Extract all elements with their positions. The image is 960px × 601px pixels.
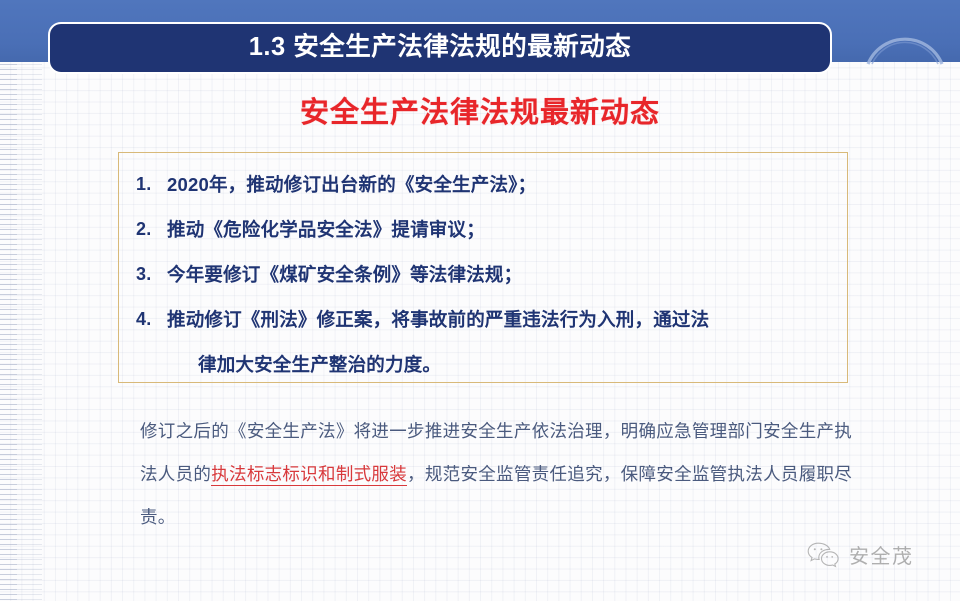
list-item-text: 今年要修订《煤矿安全条例》等法律法规； bbox=[167, 252, 841, 297]
slide-canvas: 1.3 安全生产法律法规的最新动态 安全生产法律法规最新动态 1. 2020年，… bbox=[0, 0, 960, 601]
watermark: 安全茂 bbox=[806, 540, 914, 569]
list-item-line1: 推动修订《刑法》修正案，将事故前的严重违法行为入刑，通过法 bbox=[167, 309, 709, 330]
list-item-number: 4. bbox=[136, 297, 167, 342]
page-title: 1.3 安全生产法律法规的最新动态 bbox=[249, 35, 632, 61]
wechat-icon bbox=[806, 541, 840, 569]
scan-stripes-left-inner bbox=[0, 62, 17, 601]
list-item-text: 推动《危险化学品安全法》提请审议； bbox=[167, 207, 841, 252]
list-item-line2: 律加大安全生产整治的力度。 bbox=[167, 342, 841, 387]
list-item-number: 3. bbox=[136, 252, 167, 297]
watermark-label: 安全茂 bbox=[849, 540, 914, 569]
numbered-list: 1. 2020年，推动修订出台新的《安全生产法》； 2. 推动《危险化学品安全法… bbox=[136, 162, 841, 387]
body-paragraph: 修订之后的《安全生产法》将进一步推进安全生产依法治理，明确应急管理部门安全生产执… bbox=[140, 410, 852, 539]
list-item-text: 2020年，推动修订出台新的《安全生产法》； bbox=[167, 162, 841, 207]
list-item-number: 1. bbox=[136, 162, 167, 207]
list-item: 3. 今年要修订《煤矿安全条例》等法律法规； bbox=[136, 252, 841, 297]
paragraph-highlighted-text: 执法标志标识和制式服装 bbox=[211, 464, 407, 486]
list-item: 1. 2020年，推动修订出台新的《安全生产法》； bbox=[136, 162, 841, 207]
list-item-text: 推动修订《刑法》修正案，将事故前的严重违法行为入刑，通过法 律加大安全生产整治的… bbox=[167, 297, 841, 387]
list-item-number: 2. bbox=[136, 207, 167, 252]
list-item: 2. 推动《危险化学品安全法》提请审议； bbox=[136, 207, 841, 252]
section-heading: 安全生产法律法规最新动态 bbox=[0, 98, 960, 130]
list-item: 4. 推动修订《刑法》修正案，将事故前的严重违法行为入刑，通过法 律加大安全生产… bbox=[136, 297, 841, 387]
slide-title-plate: 1.3 安全生产法律法规的最新动态 bbox=[48, 22, 832, 74]
